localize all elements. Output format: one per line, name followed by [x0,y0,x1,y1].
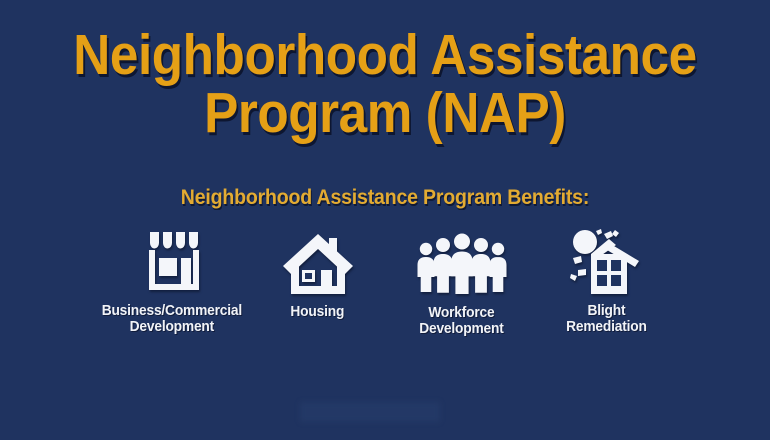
benefits-row: Business/Commercial Development [98,226,678,337]
benefit-label-line-1: Housing [291,304,345,320]
benefit-workforce-development: Workforce Development [390,226,534,337]
benefit-label: Workforce Development [420,305,504,337]
benefit-label: Business/Commercial Development [102,303,242,335]
people-group-icon [417,226,507,296]
benefit-label-line-1: Business/Commercial [102,303,242,319]
benefit-label-line-2: Development [102,319,242,335]
benefit-label-line-2: Remediation [566,319,647,335]
benefit-label-line-1: Workforce [420,305,504,321]
benefit-blight-remediation: Blight Remediation [534,226,678,335]
benefit-label-line-1: Blight [566,303,647,319]
benefit-business-commercial-development: Business/Commercial Development [98,226,246,335]
benefit-label: Housing [291,304,345,320]
benefits-subtitle: Neighborhood Assistance Program Benefits… [27,186,743,210]
benefit-label-line-2: Development [420,321,504,337]
title-line-2: Program (NAP) [39,86,732,142]
benefit-housing: Housing [246,226,390,320]
page-title: Neighborhood Assistance Program (NAP) [0,28,770,142]
house-icon [282,226,354,295]
compression-artifact [300,402,440,422]
benefit-label: Blight Remediation [566,303,647,335]
nap-promo-slide: Neighborhood Assistance Program (NAP) Ne… [0,0,770,440]
storefront-icon [141,226,203,294]
title-line-1: Neighborhood Assistance [39,28,732,84]
blighted-house-icon [569,226,643,294]
